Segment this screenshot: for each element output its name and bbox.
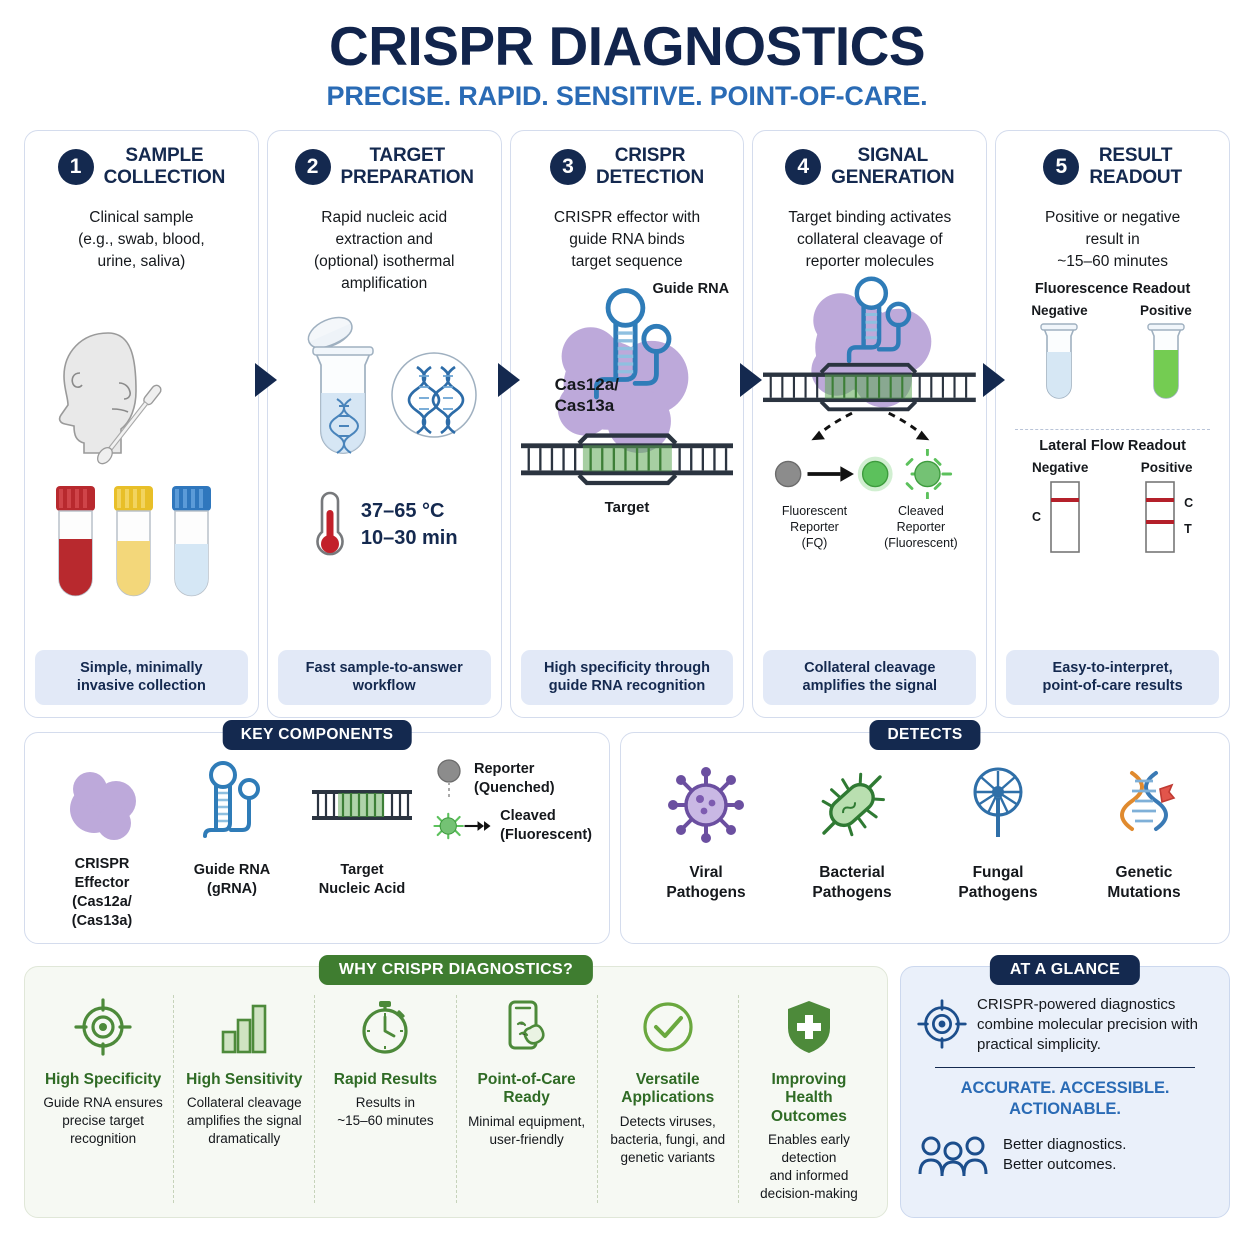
- fluorescence-negative: Negative: [1031, 303, 1087, 419]
- why-text: Detects viruses, bacteria, fungi, and ge…: [605, 1113, 731, 1167]
- step-card-crispr-detection[interactable]: 3 CRISPR DETECTION CRISPR effector with …: [510, 130, 745, 718]
- positive-label: Positive: [1138, 303, 1194, 318]
- why-title: Rapid Results: [322, 1071, 448, 1090]
- step-footer-tag: Collateral cleavage amplifies the signal: [763, 650, 976, 706]
- key-component-item[interactable]: CRISPR Effector (Cas12a/ (Cas13a): [42, 759, 162, 930]
- saliva-tube-blue: [172, 486, 211, 596]
- key-components-panel: KEY COMPONENTS CRISPR Effector (Cas12a/ …: [24, 732, 610, 943]
- step-title-line2: DETECTION: [596, 167, 704, 189]
- reporter-quenched-icon: [432, 759, 466, 799]
- step-card-target-preparation[interactable]: 2 TARGET PREPARATION Rapid nucleic acid …: [267, 130, 502, 718]
- key-components-badge: KEY COMPONENTS: [223, 720, 412, 750]
- stopwatch-icon: [322, 995, 448, 1059]
- step-number-badge: 1: [58, 149, 94, 185]
- reporter-cleaved-label: Cleaved (Fluorescent): [500, 807, 592, 845]
- cleaved-line2: Reporter: [884, 519, 958, 535]
- why-title: High Sensitivity: [181, 1071, 307, 1090]
- step-illustration: Guide RNA Cas12a/ Cas13a Target: [521, 273, 734, 650]
- detects-badge: DETECTS: [869, 720, 980, 750]
- detects-label: Viral Pathogens: [641, 863, 771, 903]
- step-number-badge: 3: [550, 149, 586, 185]
- why-crispr-panel: WHY CRISPR DIAGNOSTICS? High Specificity: [24, 966, 888, 1219]
- flow-arrow-4: [983, 363, 1005, 397]
- virus-icon: [641, 759, 771, 851]
- collateral-cleavage-icon: [763, 275, 976, 443]
- step-title-line1: SAMPLE: [104, 145, 226, 167]
- key-component-item[interactable]: Guide RNA (gRNA): [172, 759, 292, 899]
- step-title-line1: SIGNAL: [831, 145, 954, 167]
- fluorescence-readout-title: Fluorescence Readout: [1035, 281, 1191, 297]
- tube-positive-icon: [1138, 318, 1194, 414]
- step-title: SAMPLE COLLECTION: [104, 145, 226, 188]
- detects-label: Genetic Mutations: [1079, 863, 1209, 903]
- flow-arrow-2: [498, 363, 520, 397]
- step-title-line2: PREPARATION: [341, 167, 474, 189]
- title-line2: Applications: [605, 1089, 731, 1108]
- step-header: 3 CRISPR DETECTION: [521, 145, 734, 188]
- band-label-c: C: [1184, 491, 1193, 517]
- detects-item[interactable]: Viral Pathogens: [641, 759, 771, 903]
- purple-blob-icon: [42, 759, 162, 851]
- tagline-line2: ACTIONABLE.: [917, 1099, 1213, 1120]
- cas-label-line2: Cas13a: [555, 396, 619, 416]
- label-line1: Target: [302, 861, 422, 880]
- label-line2: Effector: [42, 874, 162, 893]
- step-footer-tag: Easy-to-interpret, point-of-care results: [1006, 650, 1219, 706]
- why-item[interactable]: Improving Health Outcomes Enables early …: [739, 995, 879, 1204]
- dna-mutation-icon: [1079, 759, 1209, 851]
- step-title: TARGET PREPARATION: [341, 145, 474, 188]
- label-line1: Fungal: [933, 863, 1063, 883]
- label-line2: (gRNA): [172, 880, 292, 899]
- why-title: Point-of-Care Ready: [464, 1071, 590, 1108]
- reporter-line1: Fluorescent: [782, 503, 847, 519]
- label-line1: Guide RNA: [172, 861, 292, 880]
- people-group-icon: [917, 1134, 989, 1176]
- step-description: Target binding activates collateral clea…: [763, 207, 976, 273]
- label-line2: (Quenched): [474, 779, 555, 798]
- why-text: Enables early detection and informed dec…: [746, 1131, 872, 1203]
- header: CRISPR DIAGNOSTICS PRECISE. RAPID. SENSI…: [0, 0, 1254, 112]
- mid-band: KEY COMPONENTS CRISPR Effector (Cas12a/ …: [0, 732, 1254, 943]
- label-line2: Pathogens: [787, 883, 917, 903]
- step-title-line1: TARGET: [341, 145, 474, 167]
- label-line2: (Fluorescent): [500, 826, 592, 845]
- positive-label: Positive: [1140, 460, 1193, 475]
- step-card-signal-generation[interactable]: 4 SIGNAL GENERATION Target binding activ…: [752, 130, 987, 718]
- label-line1: Genetic: [1079, 863, 1209, 883]
- key-component-label: CRISPR Effector (Cas12a/ (Cas13a): [42, 855, 162, 930]
- step-title-line2: COLLECTION: [104, 167, 226, 189]
- step-footer-tag: Simple, minimally invasive collection: [35, 650, 248, 706]
- step-illustration: [35, 273, 248, 650]
- why-text: Results in ~15–60 minutes: [322, 1094, 448, 1130]
- title-line1: High Specificity: [40, 1071, 166, 1090]
- head-swab-tubes-icon: [36, 311, 246, 611]
- step-title-line2: READOUT: [1089, 167, 1182, 189]
- outcome-line2: Better outcomes.: [1003, 1155, 1126, 1175]
- guide-rna-icon: [172, 759, 292, 851]
- detects-item[interactable]: Fungal Pathogens: [933, 759, 1063, 903]
- flow-arrow-1: [255, 363, 277, 397]
- workflow-steps: 1 SAMPLE COLLECTION Clinical sample (e.g…: [0, 130, 1254, 718]
- strip-negative-icon: [1045, 478, 1085, 556]
- shield-plus-icon: [746, 995, 872, 1059]
- guide-rna-label: Guide RNA: [653, 281, 730, 297]
- step-title: RESULT READOUT: [1089, 145, 1182, 188]
- why-title: Versatile Applications: [605, 1071, 731, 1108]
- page-title: CRISPR DIAGNOSTICS: [0, 18, 1254, 75]
- step-header: 4 SIGNAL GENERATION: [763, 145, 976, 188]
- detects-panel: DETECTS Viral Pathogens: [620, 732, 1230, 943]
- step-number-badge: 5: [1043, 149, 1079, 185]
- temperature-text: 37–65 °C 10–30 min: [361, 498, 458, 551]
- title-line1: Point-of-Care: [464, 1071, 590, 1090]
- lateral-flow-readout-title: Lateral Flow Readout: [1039, 438, 1186, 454]
- key-component-item[interactable]: Target Nucleic Acid: [302, 759, 422, 899]
- reporter-line3: (FQ): [782, 535, 847, 551]
- temperature-readout: 37–65 °C 10–30 min: [311, 488, 458, 562]
- title-line1: Improving Health: [746, 1071, 872, 1108]
- page-subtitle: PRECISE. RAPID. SENSITIVE. POINT-OF-CARE…: [0, 81, 1254, 112]
- step-footer-tag: High specificity through guide RNA recog…: [521, 650, 734, 706]
- step-title-line2: GENERATION: [831, 167, 954, 189]
- title-line1: Versatile: [605, 1071, 731, 1090]
- cas-label: Cas12a/ Cas13a: [555, 375, 619, 416]
- step-description: CRISPR effector with guide RNA binds tar…: [521, 207, 734, 273]
- why-text: Guide RNA ensures precise target recogni…: [40, 1094, 166, 1148]
- title-line2: Ready: [464, 1089, 590, 1108]
- reporter-transition-icon: [763, 449, 976, 499]
- target-icon: [40, 995, 166, 1059]
- reporter-line2: Reporter: [782, 519, 847, 535]
- step-title: SIGNAL GENERATION: [831, 145, 954, 188]
- target-icon: [917, 999, 967, 1049]
- why-text: Minimal equipment, user-friendly: [464, 1113, 590, 1149]
- readout-divider: [1015, 429, 1211, 430]
- microtube-dna-icon: [279, 303, 489, 468]
- step-header: 2 TARGET PREPARATION: [278, 145, 491, 188]
- label-line2: Mutations: [1079, 883, 1209, 903]
- fungus-icon: [933, 759, 1063, 851]
- step-description: Rapid nucleic acid extraction and (optio…: [278, 207, 491, 295]
- label-line1: CRISPR: [42, 855, 162, 874]
- step-title-line1: CRISPR: [596, 145, 704, 167]
- infographic-page: CRISPR DIAGNOSTICS PRECISE. RAPID. SENSI…: [0, 0, 1254, 1254]
- why-item[interactable]: High Specificity Guide RNA ensures preci…: [33, 995, 174, 1204]
- step-card-result-readout[interactable]: 5 RESULT READOUT Positive or negative re…: [995, 130, 1230, 718]
- key-component-label: Guide RNA (gRNA): [172, 861, 292, 899]
- urine-tube-yellow: [114, 486, 153, 596]
- step-header: 1 SAMPLE COLLECTION: [35, 145, 248, 188]
- why-items-list: High Specificity Guide RNA ensures preci…: [33, 995, 879, 1204]
- detects-label: Bacterial Pathogens: [787, 863, 917, 903]
- reporter-legend[interactable]: Reporter (Quenched): [432, 759, 592, 845]
- reporter-quenched-label: Reporter (Quenched): [474, 760, 555, 798]
- strip-positive-icon: [1140, 478, 1180, 556]
- label-line2: Pathogens: [641, 883, 771, 903]
- duration-value: 10–30 min: [361, 525, 458, 551]
- label-line1: Bacterial: [787, 863, 917, 883]
- step-illustration: Fluorescence Readout Negative Positive: [1006, 273, 1219, 650]
- thermometer-icon: [311, 488, 349, 562]
- fluorescence-positive: Positive: [1138, 303, 1194, 419]
- band-label-t: T: [1184, 517, 1193, 543]
- why-item[interactable]: Point-of-Care Ready Minimal equipment, u…: [457, 995, 598, 1204]
- label-line2: Nucleic Acid: [302, 880, 422, 899]
- step-title: CRISPR DETECTION: [596, 145, 704, 188]
- glance-outcome: Better diagnostics. Better outcomes.: [1003, 1135, 1126, 1174]
- glance-statement: CRISPR-powered diagnostics combine molec…: [977, 995, 1213, 1055]
- step-description: Clinical sample (e.g., swab, blood, urin…: [35, 207, 248, 273]
- why-title: High Specificity: [40, 1071, 166, 1090]
- step-number-badge: 2: [295, 149, 331, 185]
- detects-item[interactable]: Genetic Mutations: [1079, 759, 1209, 903]
- why-item[interactable]: High Sensitivity Collateral cleavage amp…: [174, 995, 315, 1204]
- negative-label: Negative: [1031, 303, 1087, 318]
- key-components-list: CRISPR Effector (Cas12a/ (Cas13a): [37, 759, 597, 930]
- lateral-positive: Positive C T: [1140, 460, 1193, 556]
- check-circle-icon: [605, 995, 731, 1059]
- glance-divider: [935, 1067, 1195, 1069]
- outcome-line1: Better diagnostics.: [1003, 1135, 1126, 1155]
- fluorescent-reporter-label: Fluorescent Reporter (FQ): [782, 503, 847, 551]
- key-component-label: Target Nucleic Acid: [302, 861, 422, 899]
- title-line1: High Sensitivity: [181, 1071, 307, 1090]
- label-line1: Cleaved: [500, 807, 592, 826]
- detects-label: Fungal Pathogens: [933, 863, 1063, 903]
- detects-list: Viral Pathogens: [633, 759, 1217, 903]
- detects-item[interactable]: Bacterial Pathogens: [787, 759, 917, 903]
- cleaved-line3: (Fluorescent): [884, 535, 958, 551]
- negative-label: Negative: [1032, 460, 1088, 475]
- step-title-line1: RESULT: [1089, 145, 1182, 167]
- label-line1: Reporter: [474, 760, 555, 779]
- step-card-sample-collection[interactable]: 1 SAMPLE COLLECTION Clinical sample (e.g…: [24, 130, 259, 718]
- cleaved-reporter-label: Cleaved Reporter (Fluorescent): [884, 503, 958, 551]
- label-line2: Pathogens: [933, 883, 1063, 903]
- step-header: 5 RESULT READOUT: [1006, 145, 1219, 188]
- flow-arrow-3: [740, 363, 762, 397]
- why-crispr-badge: WHY CRISPR DIAGNOSTICS?: [319, 955, 593, 985]
- title-line2: Outcomes: [746, 1108, 872, 1127]
- glance-statement-row: CRISPR-powered diagnostics combine molec…: [917, 995, 1213, 1055]
- label-line1: Viral: [641, 863, 771, 883]
- bottom-band: WHY CRISPR DIAGNOSTICS? High Specificity: [0, 966, 1254, 1219]
- why-text: Collateral cleavage amplifies the signal…: [181, 1094, 307, 1148]
- blood-tube-red: [56, 486, 95, 596]
- cleaved-line1: Cleaved: [884, 503, 958, 519]
- step-number-badge: 4: [785, 149, 821, 185]
- why-item[interactable]: Rapid Results Results in ~15–60 minutes: [315, 995, 456, 1204]
- target-label: Target: [521, 499, 734, 516]
- cas-complex-icon: [521, 277, 734, 512]
- bar-chart-icon: [181, 995, 307, 1059]
- step-description: Positive or negative result in ~15–60 mi…: [1006, 207, 1219, 273]
- bacteria-icon: [787, 759, 917, 851]
- temperature-value: 37–65 °C: [361, 498, 458, 524]
- glance-tagline: ACCURATE. ACCESSIBLE. ACTIONABLE.: [917, 1078, 1213, 1119]
- tagline-line1: ACCURATE. ACCESSIBLE.: [917, 1078, 1213, 1099]
- label-line3: (Cas12a/: [42, 893, 162, 912]
- at-a-glance-badge: AT A GLANCE: [990, 955, 1140, 985]
- lateral-negative: Negative C: [1032, 460, 1088, 556]
- step-illustration: 37–65 °C 10–30 min: [278, 295, 491, 650]
- why-item[interactable]: Versatile Applications Detects viruses, …: [598, 995, 739, 1204]
- glance-outcome-row: Better diagnostics. Better outcomes.: [917, 1134, 1213, 1176]
- dna-duplex-icon: [302, 759, 422, 851]
- step-illustration: Fluorescent Reporter (FQ) Cleaved Report…: [763, 273, 976, 650]
- step-footer-tag: Fast sample-to-answer workflow: [278, 650, 491, 706]
- cas-label-line1: Cas12a/: [555, 375, 619, 395]
- reporter-cleaved-icon: [432, 808, 492, 844]
- why-title: Improving Health Outcomes: [746, 1071, 872, 1127]
- tube-negative-icon: [1031, 318, 1087, 414]
- mobile-device-icon: [464, 995, 590, 1059]
- band-label-c: C: [1032, 510, 1041, 524]
- label-line4: (Cas13a): [42, 912, 162, 931]
- at-a-glance-panel: AT A GLANCE CRISPR-powered diagnostics c…: [900, 966, 1230, 1219]
- title-line1: Rapid Results: [322, 1071, 448, 1090]
